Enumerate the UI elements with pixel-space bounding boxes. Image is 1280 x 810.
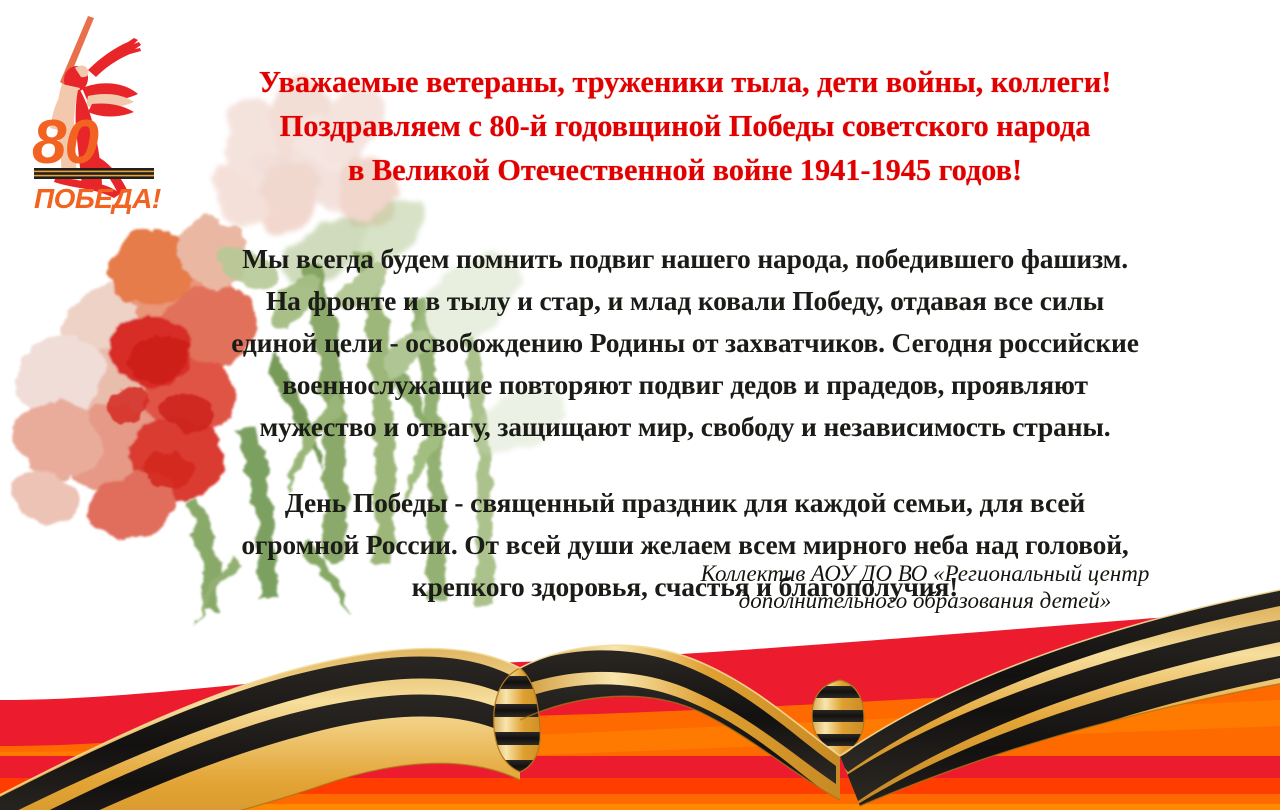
logo-word: ПОБЕДА! xyxy=(34,183,161,214)
st-george-ribbon-banner xyxy=(0,550,1280,810)
logo-number: 80 xyxy=(32,108,98,177)
logo-ribbon-bar xyxy=(34,168,154,179)
paragraph-remembrance: Мы всегда будем помнить подвиг нашего на… xyxy=(150,238,1220,448)
heading-line: Поздравляем с 80-й годовщиной Победы сов… xyxy=(150,104,1220,148)
paragraph-line: единой цели - освобождению Родины от зах… xyxy=(150,322,1220,364)
paragraph-line: военнослужащие повторяют подвиг дедов и … xyxy=(150,364,1220,406)
heading-line: Уважаемые ветераны, труженики тыла, дети… xyxy=(150,60,1220,104)
paragraph-line: День Победы - священный праздник для каж… xyxy=(150,482,1220,524)
greeting-content: Уважаемые ветераны, труженики тыла, дети… xyxy=(150,60,1220,608)
paragraph-line: Мы всегда будем помнить подвиг нашего на… xyxy=(150,238,1220,280)
heading-line: в Великой Отечественной войне 1941-1945 … xyxy=(150,148,1220,192)
paragraph-line: мужество и отвагу, защищают мир, свободу… xyxy=(150,406,1220,448)
victory-day-greeting-card: 80 ПОБЕДА! Уважаемые ветераны, труженики… xyxy=(0,0,1280,810)
greeting-heading: Уважаемые ветераны, труженики тыла, дети… xyxy=(150,60,1220,192)
paragraph-line: На фронте и в тылу и стар, и млад ковали… xyxy=(150,280,1220,322)
